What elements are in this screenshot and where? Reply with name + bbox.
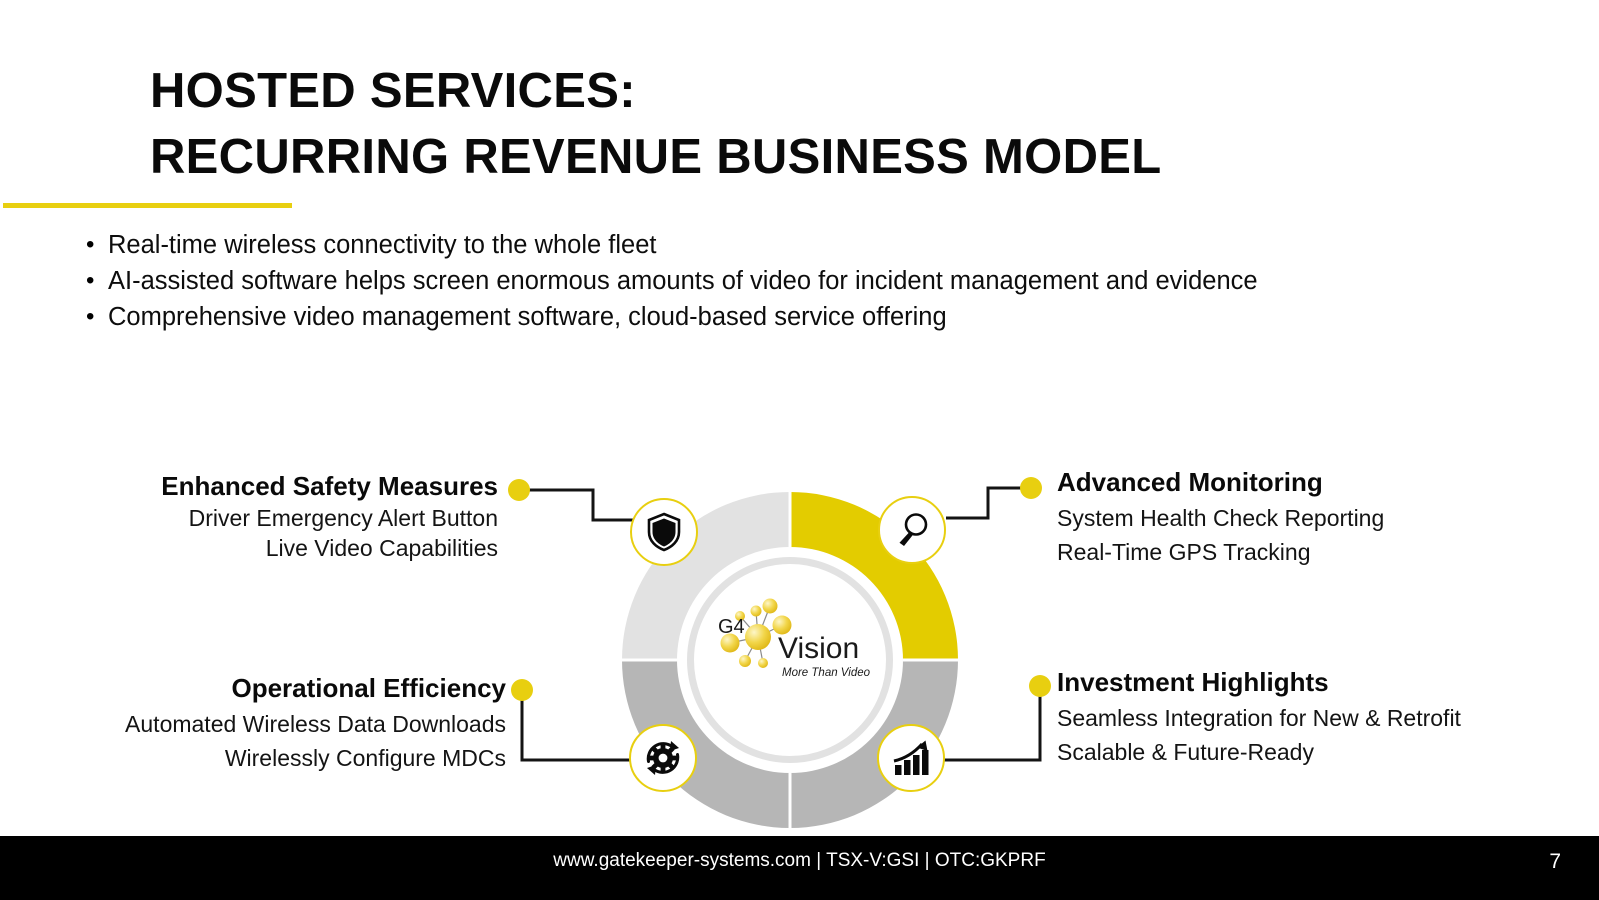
title-line-1: HOSTED SERVICES: xyxy=(150,58,1450,124)
quadrant-detail-line: Scalable & Future-Ready xyxy=(1057,738,1527,766)
footer-bar: www.gatekeeper-systems.com | TSX-V:GSI |… xyxy=(0,836,1599,900)
growth-chart-icon xyxy=(891,739,931,777)
g4-vision-logo: G4 Vision More Than Video xyxy=(700,585,880,690)
bullet-text: Comprehensive video management software,… xyxy=(108,300,947,335)
quadrant-detail-line: Seamless Integration for New & Retrofit xyxy=(1057,704,1527,732)
node-dot-bottom-right xyxy=(1029,675,1051,697)
magnifier-icon xyxy=(893,511,931,549)
quadrant-icon-badge-bottom-left[interactable] xyxy=(629,724,697,792)
connector-bottom-right xyxy=(944,682,1074,774)
quadrant-title: Enhanced Safety Measures xyxy=(0,470,498,502)
bullet-text: AI-assisted software helps screen enormo… xyxy=(108,264,1258,299)
quadrant-icon-badge-top-right[interactable] xyxy=(878,496,946,564)
logo-brand-text: G4 xyxy=(718,616,745,638)
logo-tagline-text: More Than Video xyxy=(782,667,871,679)
quadrant-label-bottom-left: Operational Efficiency Automated Wireles… xyxy=(0,672,506,772)
bullet-marker-icon: • xyxy=(86,300,108,334)
quadrant-detail-line: System Health Check Reporting xyxy=(1057,504,1527,532)
quadrant-detail-line: Wirelessly Configure MDCs xyxy=(0,744,506,772)
quadrant-detail-line: Driver Emergency Alert Button xyxy=(0,504,498,532)
quadrant-title: Investment Highlights xyxy=(1057,666,1527,698)
bullet-list: • Real-time wireless connectivity to the… xyxy=(86,228,1536,336)
node-dot-bottom-left xyxy=(511,679,533,701)
page-title: HOSTED SERVICES: RECURRING REVENUE BUSIN… xyxy=(150,58,1450,190)
node-dot-top-right xyxy=(1020,477,1042,499)
quadrant-icon-badge-top-left[interactable] xyxy=(630,498,698,566)
logo-product-text: Vision xyxy=(778,632,859,665)
gear-refresh-icon xyxy=(642,737,684,779)
page-number: 7 xyxy=(1549,836,1561,888)
bullet-marker-icon: • xyxy=(86,264,108,298)
list-item: • AI-assisted software helps screen enor… xyxy=(86,264,1536,300)
quadrant-label-top-right: Advanced Monitoring System Health Check … xyxy=(1057,466,1527,566)
hosted-services-diagram: G4 Vision More Than Video xyxy=(0,430,1599,830)
quadrant-title: Advanced Monitoring xyxy=(1057,466,1527,498)
quadrant-detail-line: Real-Time GPS Tracking xyxy=(1057,538,1527,566)
quadrant-icon-badge-bottom-right[interactable] xyxy=(877,724,945,792)
slide: HOSTED SERVICES: RECURRING REVENUE BUSIN… xyxy=(0,0,1599,900)
node-dot-top-left xyxy=(508,479,530,501)
list-item: • Comprehensive video management softwar… xyxy=(86,300,1536,336)
connector-bottom-left xyxy=(512,686,642,778)
quadrant-label-bottom-right: Investment Highlights Seamless Integrati… xyxy=(1057,666,1527,766)
list-item: • Real-time wireless connectivity to the… xyxy=(86,228,1536,264)
quadrant-label-top-left: Enhanced Safety Measures Driver Emergenc… xyxy=(0,470,498,562)
bullet-text: Real-time wireless connectivity to the w… xyxy=(108,228,657,263)
footer-text: www.gatekeeper-systems.com | TSX-V:GSI |… xyxy=(0,836,1599,886)
quadrant-title: Operational Efficiency xyxy=(0,672,506,704)
title-accent-rule xyxy=(3,203,292,208)
bullet-marker-icon: • xyxy=(86,228,108,262)
title-line-2: RECURRING REVENUE BUSINESS MODEL xyxy=(150,124,1450,190)
connector-top-left xyxy=(517,482,647,532)
quadrant-detail-line: Automated Wireless Data Downloads xyxy=(0,710,506,738)
quadrant-detail-line: Live Video Capabilities xyxy=(0,534,498,562)
shield-icon xyxy=(646,512,682,552)
